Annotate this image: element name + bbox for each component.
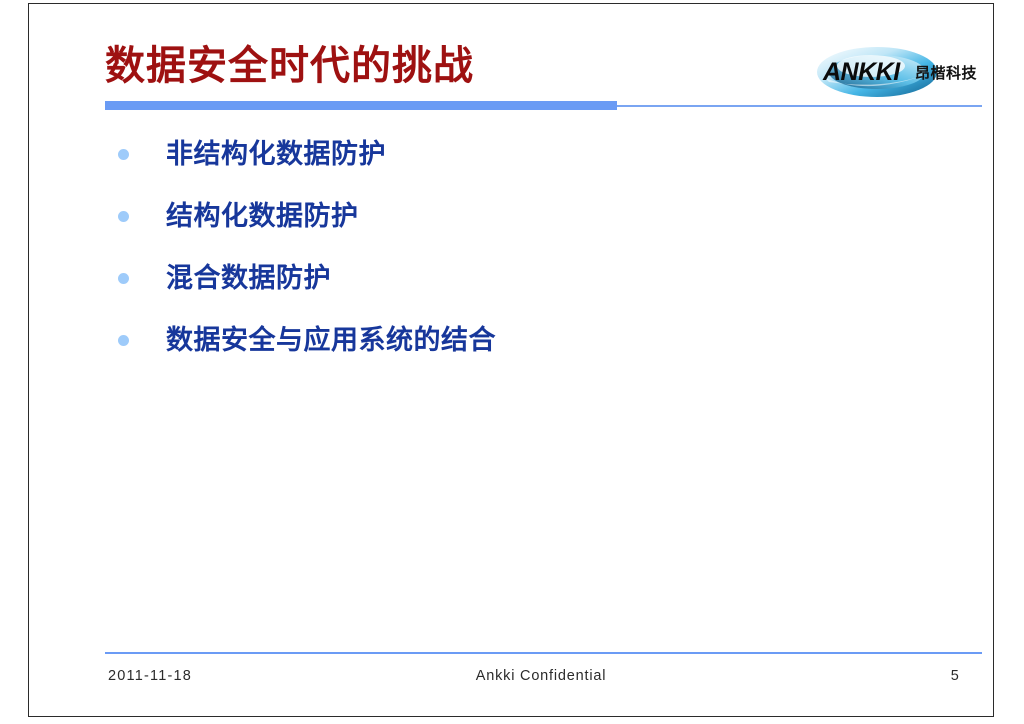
list-item-label: 混合数据防护 [166,256,331,300]
list-item-label: 结构化数据防护 [166,194,359,238]
company-logo: ANKKI 昂楷科技 [815,44,991,100]
list-item-label: 数据安全与应用系统的结合 [166,318,496,362]
footer-divider [105,652,982,654]
list-item-label: 非结构化数据防护 [166,132,386,176]
bullet-dot-icon [118,335,129,346]
bullet-dot-icon [118,211,129,222]
logo-chinese-name: 昂楷科技 [915,62,977,83]
list-item: 非结构化数据防护 [105,132,965,194]
slide-frame: 数据安全时代的挑战 [28,3,994,717]
list-item: 数据安全与应用系统的结合 [105,318,965,380]
bullet-dot-icon [118,149,129,160]
page-title: 数据安全时代的挑战 [105,40,785,92]
list-item: 混合数据防护 [105,256,965,318]
slide-root: 数据安全时代的挑战 [0,0,1024,724]
logo-wordmark: ANKKI [823,58,900,87]
bullet-list: 非结构化数据防护 结构化数据防护 混合数据防护 数据安全与应用系统的结合 [105,132,965,380]
bullet-dot-icon [118,273,129,284]
list-item: 结构化数据防护 [105,194,965,256]
footer-page-number: 5 [929,668,981,684]
footer-confidential-notice: Ankki Confidential [29,668,1024,684]
title-rule-thick [105,101,617,110]
